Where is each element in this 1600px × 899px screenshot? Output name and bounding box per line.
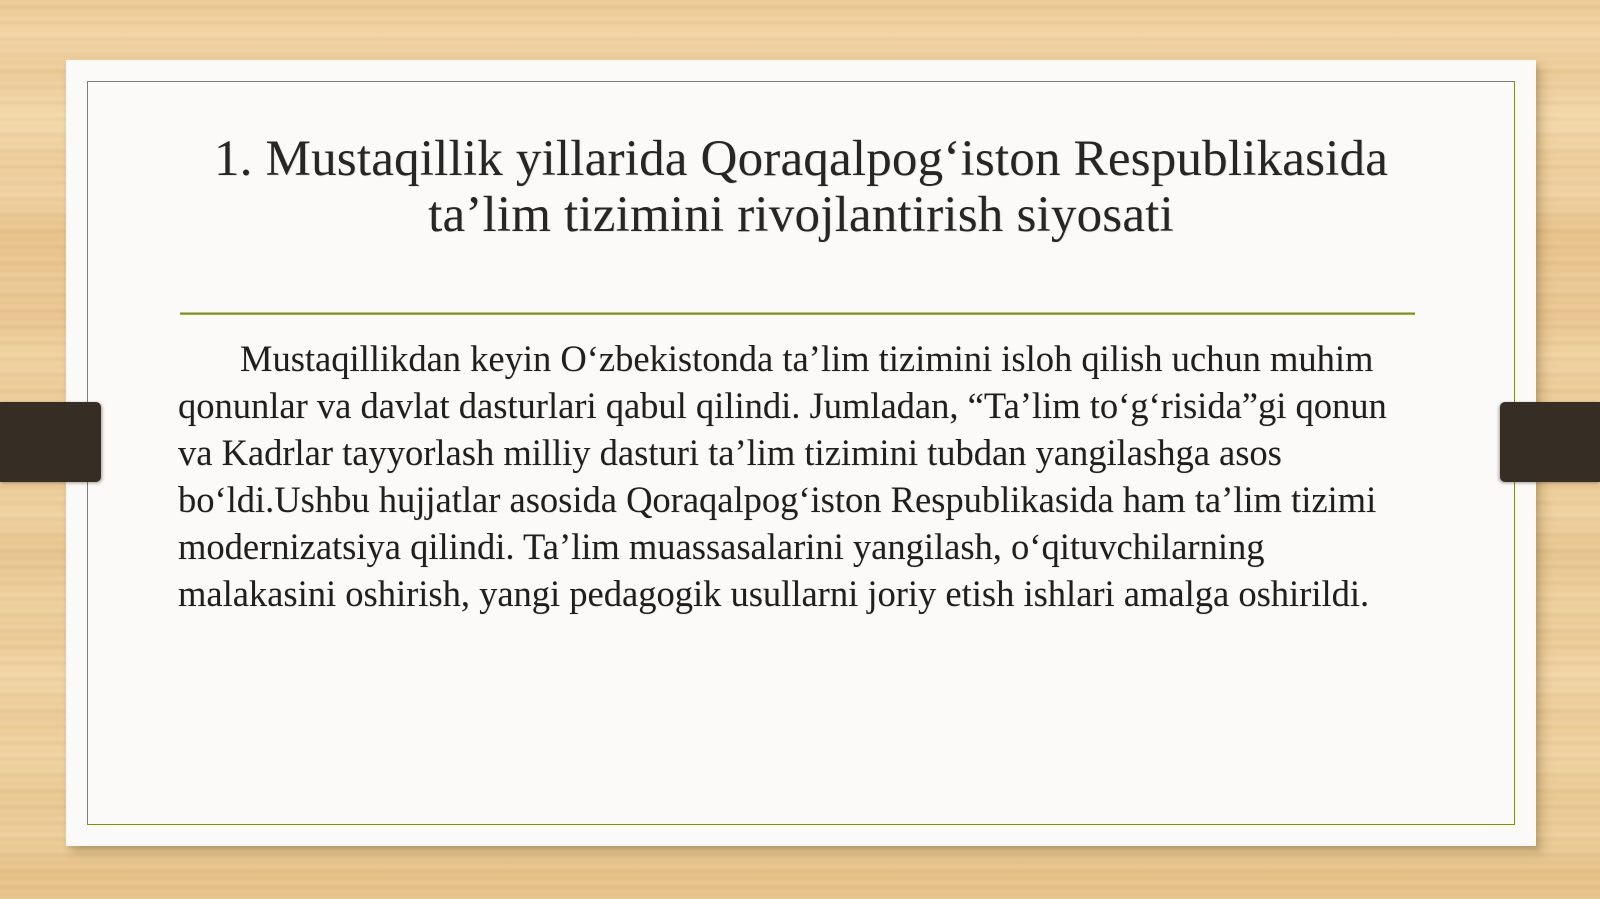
page-title: 1. Mustaqillik yillarida Qoraqalpog‘isto… bbox=[176, 131, 1426, 243]
slide-content: 1. Mustaqillik yillarida Qoraqalpog‘isto… bbox=[66, 60, 1536, 846]
slide-background: 1. Mustaqillik yillarida Qoraqalpog‘isto… bbox=[0, 0, 1600, 899]
title-divider bbox=[180, 312, 1415, 315]
body-paragraph: Mustaqillikdan keyin O‘zbekistonda ta’li… bbox=[178, 335, 1406, 617]
clip-tab-left bbox=[0, 402, 101, 482]
clip-tab-right bbox=[1500, 402, 1600, 482]
slide-card: 1. Mustaqillik yillarida Qoraqalpog‘isto… bbox=[66, 60, 1536, 846]
